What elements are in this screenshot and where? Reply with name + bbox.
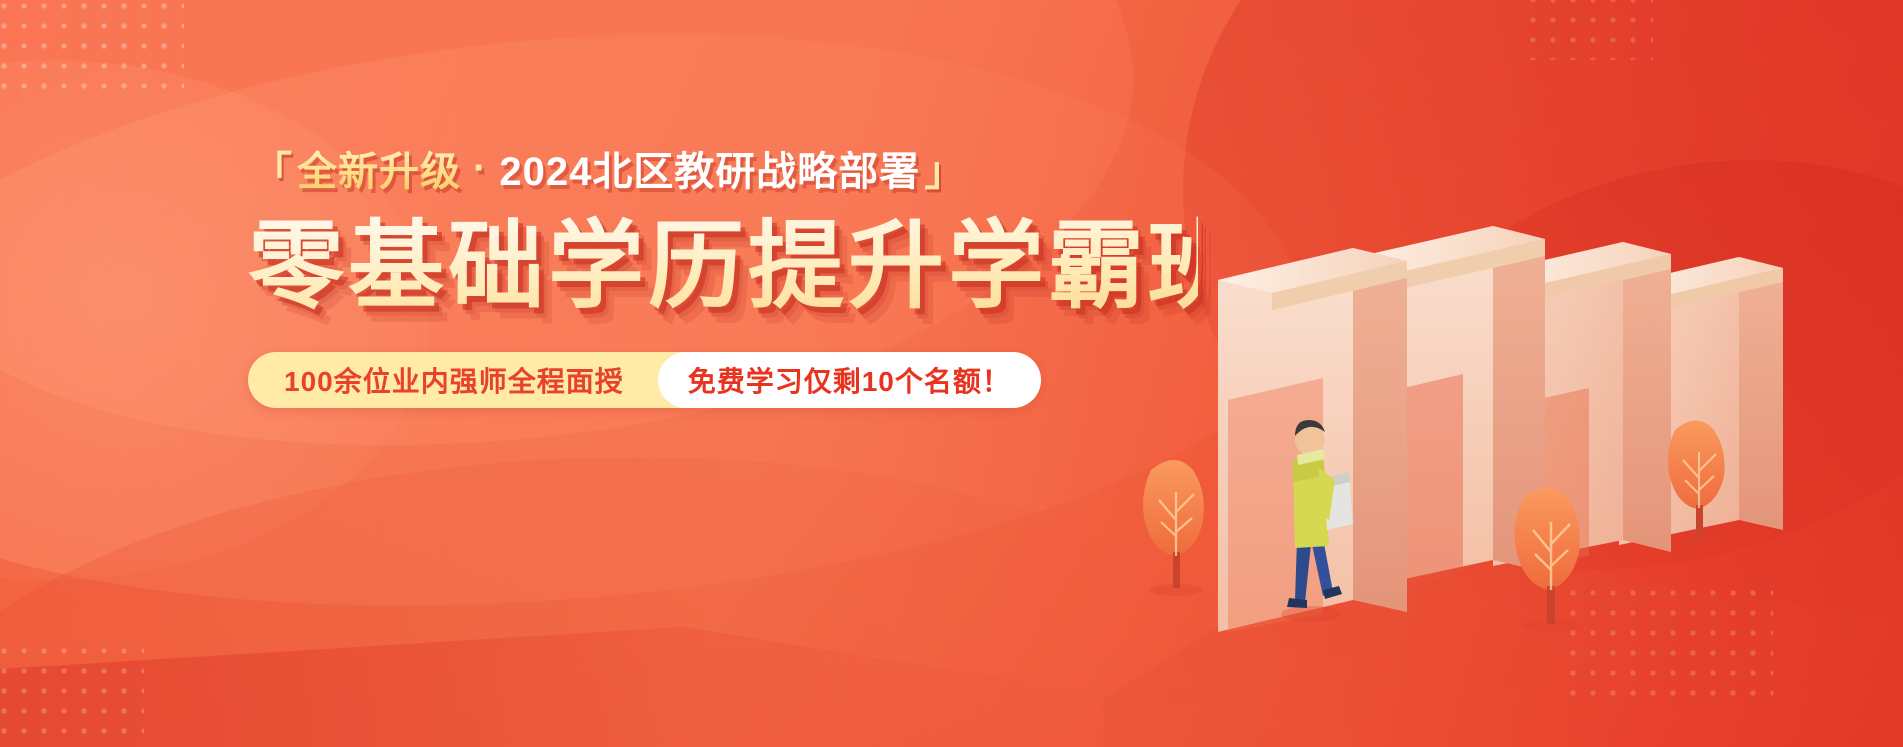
wave-shape-bottom-strip — [0, 627, 1100, 747]
tree-left — [1143, 460, 1204, 596]
subtitle-open-bracket: 「 — [252, 139, 293, 197]
badge-teacher-count: 100余位业内强师全程面授 — [248, 352, 658, 408]
banner-content: 「 全新升级 · 2024北区教研战略部署 」 零基础学历提升学霸班 100余位… — [248, 140, 1198, 408]
badge-row: 100余位业内强师全程面授 免费学习仅剩10个名额！ — [248, 352, 1041, 408]
subtitle-close-bracket: 」 — [924, 139, 965, 197]
banner-subtitle: 「 全新升级 · 2024北区教研战略部署 」 — [248, 140, 1198, 196]
subtitle-separator-dot: · — [461, 146, 499, 191]
subtitle-highlight-text: 全新升级 — [297, 139, 461, 197]
dot-pattern-top-left — [0, 0, 184, 96]
dot-pattern-bottom-left — [0, 641, 144, 747]
promo-banner: 「 全新升级 · 2024北区教研战略部署 」 零基础学历提升学霸班 100余位… — [0, 0, 1903, 747]
banner-main-title: 零基础学历提升学霸班 — [248, 212, 1198, 322]
subtitle-plain-text: 2024北区教研战略部署 — [499, 139, 920, 197]
badge-seats-remaining[interactable]: 免费学习仅剩10个名额！ — [658, 352, 1041, 408]
